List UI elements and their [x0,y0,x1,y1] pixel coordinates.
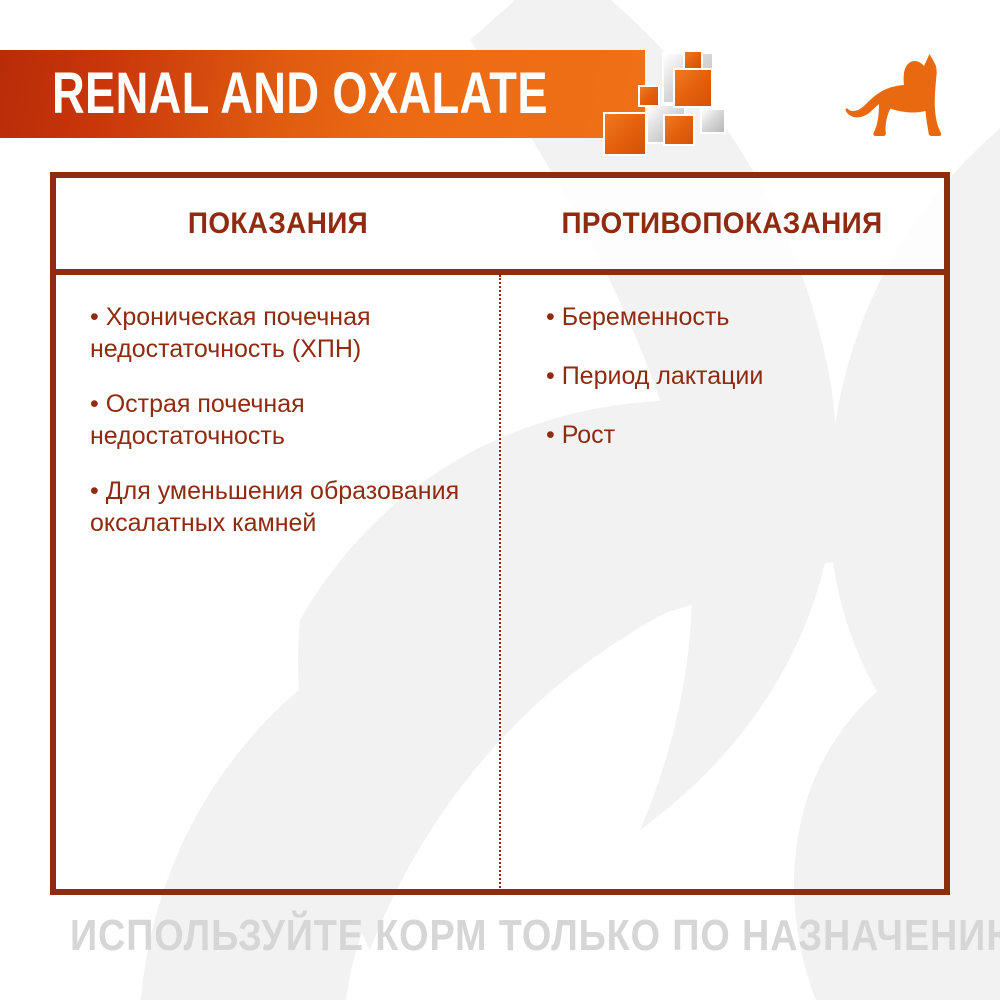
column-indications: • Хроническая почечная недостаточность (… [56,275,500,895]
column-divider [499,275,501,895]
list-item: • Острая почечная недостаточность [90,388,482,452]
indications-table: ПОКАЗАНИЯ ПРОТИВОПОКАЗАНИЯ • Хроническая… [50,172,950,895]
column-contraindications: • Беременность • Период лактации • Рост [500,275,944,895]
decor-square-orange-4 [603,112,647,156]
footer-notice: ИСПОЛЬЗУЙТЕ КОРМ ТОЛЬКО ПО НАЗНАЧЕНИЮ ВР… [70,912,930,960]
column-header-indications: ПОКАЗАНИЯ [72,178,485,269]
decor-square-gray-3 [700,108,726,134]
decor-square-orange-1 [683,50,703,70]
list-item: • Период лактации [534,360,926,392]
table-header-row: ПОКАЗАНИЯ ПРОТИВОПОКАЗАНИЯ [56,178,944,275]
cat-silhouette-icon [845,52,965,147]
decor-square-orange-2 [673,68,713,108]
column-header-contraindications: ПРОТИВОПОКАЗАНИЯ [516,178,929,269]
list-item: • Рост [534,419,926,451]
poster-page: RENAL AND OXALATE ПОКАЗАНИЯ ПРОТИВОПОКАЗ… [0,0,1000,1000]
list-item: • Беременность [534,301,926,333]
header-banner: RENAL AND OXALATE [0,50,645,138]
table-body: • Хроническая почечная недостаточность (… [56,275,944,895]
list-item: • Хроническая почечная недостаточность (… [90,301,482,365]
cat-icon [845,52,965,142]
decor-square-orange-5 [663,114,695,146]
list-item: • Для уменьшения образования оксалатных … [90,475,482,539]
page-title: RENAL AND OXALATE [52,65,548,123]
decor-square-orange-3 [638,85,660,107]
